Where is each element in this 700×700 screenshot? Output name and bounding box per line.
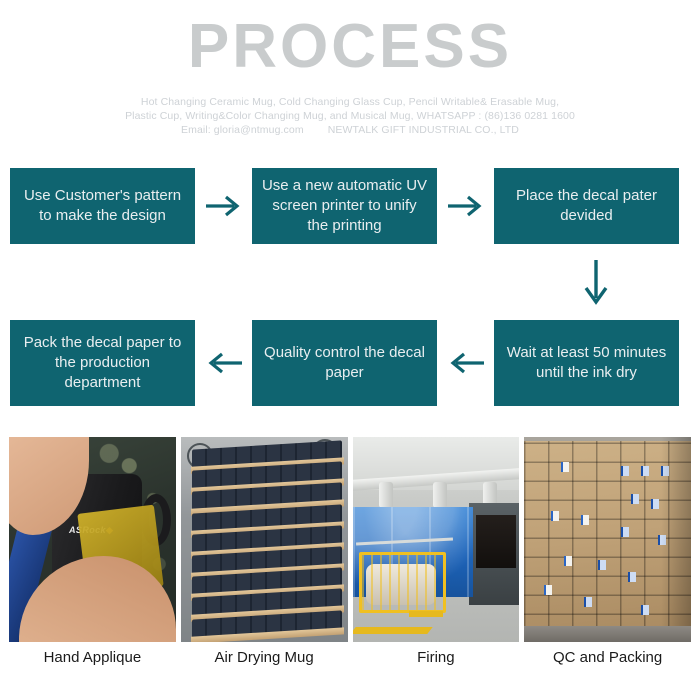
stack-shadow [661,437,691,642]
rack-shelf [191,619,344,639]
photo-strip: ASRock◆ [0,437,700,642]
arrow-down-icon [578,258,614,310]
kiln-opening [476,515,516,568]
process-step-3: Place the decal pater devided [494,168,679,244]
floor-marking [409,611,442,617]
contact-line-1: Hot Changing Ceramic Mug, Cold Changing … [0,95,700,109]
process-step-5: Quality control the decal paper [252,320,437,406]
arrow-right-icon-2 [437,193,494,219]
flow-row-2: Pack the decal paper to the production d… [0,320,700,406]
arrow-left-icon-2 [437,350,494,376]
email-text: Email: gloria@ntmug.com [181,124,304,136]
process-step-2: Use a new automatic UV screen printer to… [252,168,437,244]
arrow-right-icon-1 [195,193,252,219]
caption-qc-and-packing: QC and Packing [524,648,691,668]
carton-label [641,466,649,476]
exhaust-pipe [379,482,393,508]
carton-label [641,605,649,615]
process-step-4: Wait at least 50 minutes until the ink d… [494,320,679,406]
photo-qc-and-packing [524,437,691,642]
caption-firing: Firing [353,648,520,668]
carton-label [564,556,572,566]
floor-marking [353,627,432,634]
arrow-left-icon-1 [195,350,252,376]
photo-captions: Hand Applique Air Drying Mug Firing QC a… [0,648,700,668]
carton-label [561,462,569,472]
carton-label [631,494,639,504]
company-name-text: NEWTALK GIFT INDUSTRIAL CO., LTD [328,124,519,136]
carton-label [621,466,629,476]
photo-hand-applique: ASRock◆ [9,437,176,642]
carton-label [598,560,606,570]
carton-label [621,527,629,537]
warehouse-floor [524,626,691,642]
process-step-6: Pack the decal paper to the production d… [10,320,195,406]
contact-block: Hot Changing Ceramic Mug, Cold Changing … [0,95,700,137]
caption-air-drying-mug: Air Drying Mug [181,648,348,668]
contact-line-3: Email: gloria@ntmug.com NEWTALK GIFT IND… [0,123,700,137]
flow-row-1: Use Customer's pattern to make the desig… [0,168,700,244]
photo-firing [353,437,520,642]
process-step-1: Use Customer's pattern to make the desig… [10,168,195,244]
carton-label [651,499,659,509]
caption-hand-applique: Hand Applique [9,648,176,668]
drying-rack [191,445,344,638]
carton-label [581,515,589,525]
process-infographic: PROCESS Hot Changing Ceramic Mug, Cold C… [0,0,700,700]
contact-line-2: Plastic Cup, Writing&Color Changing Mug,… [0,109,700,123]
exhaust-pipe [433,482,447,508]
yellow-safety-cage [359,552,446,614]
page-title: PROCESS [0,0,700,78]
carton-label [551,511,559,521]
carton-label [544,585,552,595]
carton-label [628,572,636,582]
photo-air-drying-mug [181,437,348,642]
carton-label [584,597,592,607]
